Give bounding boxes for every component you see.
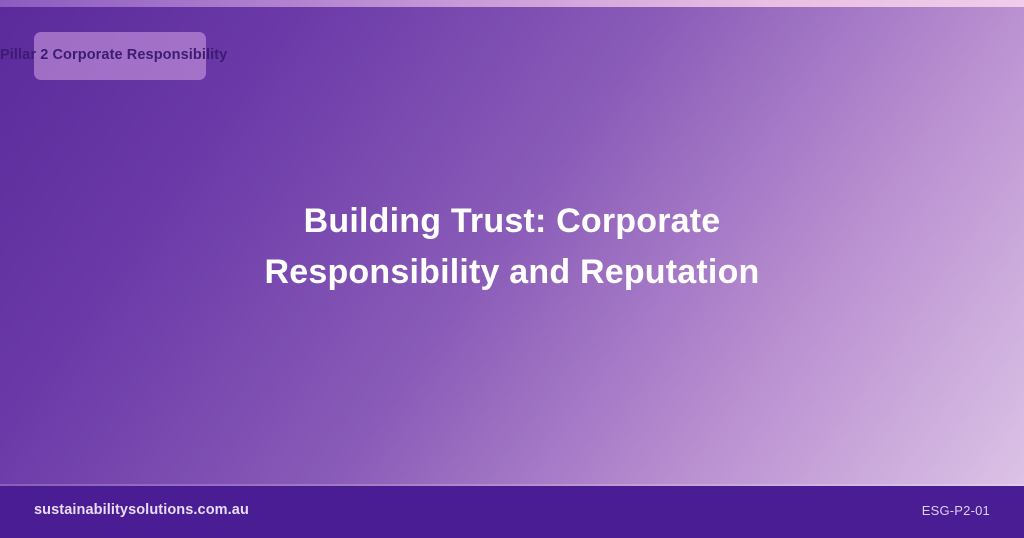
footer-website: sustainabilitysolutions.com.au [34,502,249,518]
top-accent-bar [0,0,1024,7]
slide-title: Building Trust: Corporate Responsibility… [0,196,1024,298]
slide-title-line-1: Building Trust: Corporate [0,196,1024,247]
presentation-slide: Pillar 2 Corporate Responsibility Buildi… [0,0,1024,538]
slide-title-line-2: Responsibility and Reputation [0,247,1024,298]
footer-slide-code: ESG-P2-01 [922,503,990,518]
pillar-badge-label: Pillar 2 Corporate Responsibility [0,47,480,63]
slide-footer: sustainabilitysolutions.com.au ESG-P2-01 [0,486,1024,538]
